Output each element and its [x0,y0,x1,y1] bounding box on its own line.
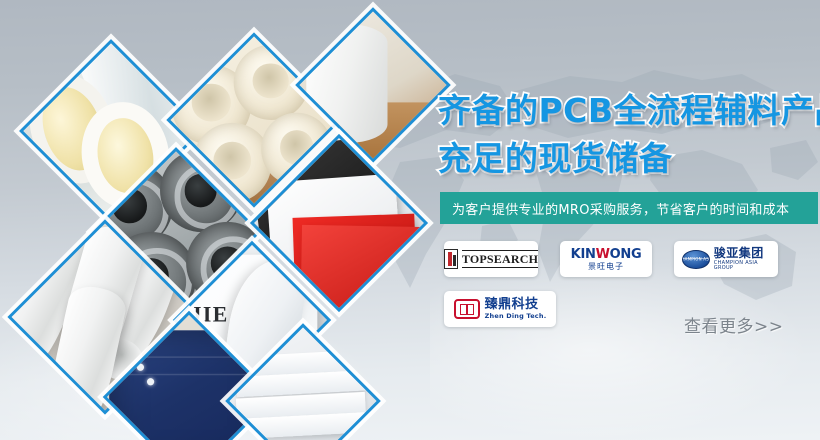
view-more-link[interactable]: 查看更多>> [684,312,784,337]
subtitle-bar: 为客户提供专业的MRO采购服务，节省客户的时间和成本 [440,192,818,224]
kinwong-name-cn: 景旺电子 [571,263,642,271]
headline-line-1: 齐备的PCB全流程辅料产品、 [438,94,820,127]
zhen-ding-name-cn: 臻鼎科技 [485,298,547,311]
client-logo-row-1: TOPSEARCH KINWONG 景旺电子 CHAMPION ASIA 骏亚集… [444,241,778,277]
logo-zhen-ding[interactable]: 臻鼎科技 Zhen Ding Tech. [444,291,556,327]
logo-topsearch[interactable]: TOPSEARCH [444,241,538,277]
topsearch-name: TOPSEARCH [462,250,538,268]
subtitle-text: 为客户提供专业的MRO采购服务，节省客户的时间和成本 [440,199,789,218]
logo-kinwong[interactable]: KINWONG 景旺电子 [560,241,652,277]
zhen-ding-name-en: Zhen Ding Tech. [485,313,547,320]
headline-line-2: 充足的现货储备 [438,142,673,175]
banner-copy: 齐备的PCB全流程辅料产品、 充足的现货储备 为客户提供专业的MRO采购服务，节… [430,0,820,440]
champion-asia-globe-icon: CHAMPION ASIA [682,250,710,269]
topsearch-mark-icon [444,249,458,269]
zhen-ding-mark-icon [454,299,480,319]
champion-asia-name-en: CHAMPION ASIA GROUP [714,261,770,271]
client-logo-row-2: 臻鼎科技 Zhen Ding Tech. [444,291,556,327]
promo-banner: JIE 齐备的PCB全流程辅料产品、 充足的现货储备 [0,0,820,440]
kinwong-name-en: KINWONG [571,248,642,261]
logo-champion-asia[interactable]: CHAMPION ASIA 骏亚集团 CHAMPION ASIA GROUP [674,241,778,277]
product-photo-collage: JIE [0,0,470,440]
champion-asia-name-cn: 骏亚集团 [714,247,770,259]
